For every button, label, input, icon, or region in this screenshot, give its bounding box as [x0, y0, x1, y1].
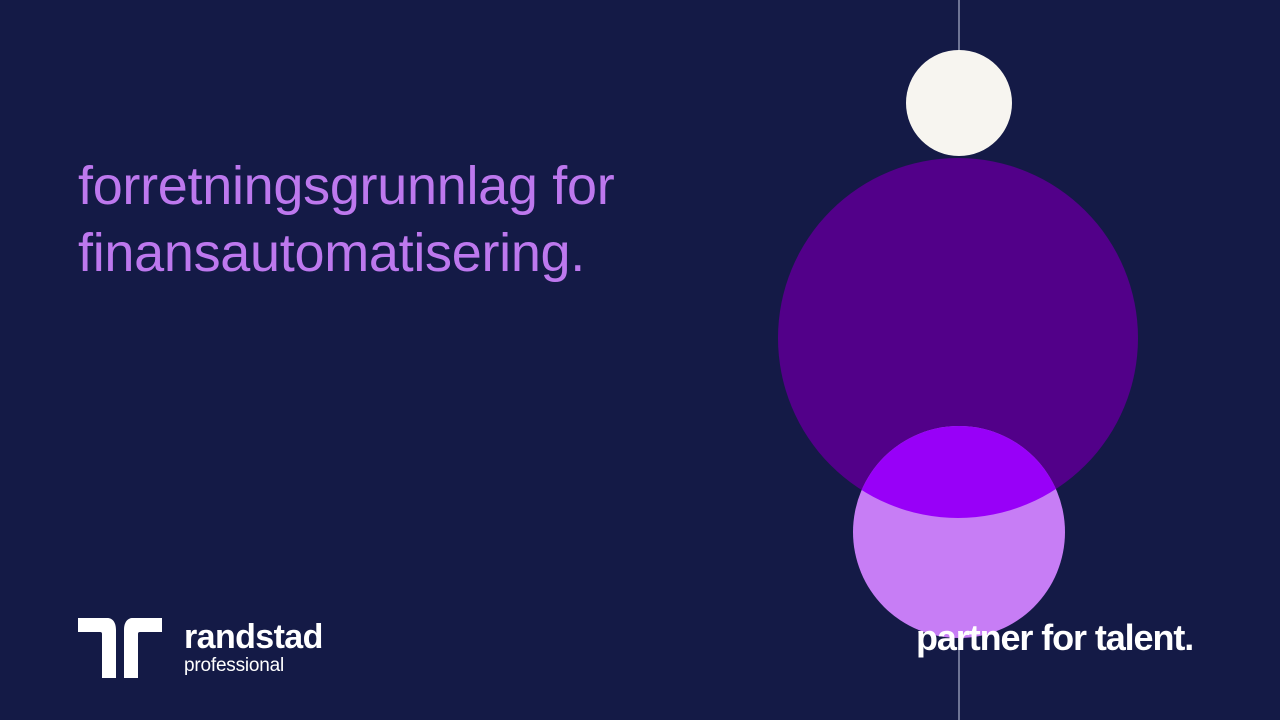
white-circle: [906, 50, 1012, 156]
randstad-subbrand-text: professional: [184, 655, 323, 677]
presentation-slide: forretningsgrunnlag for finansautomatise…: [0, 0, 1280, 720]
randstad-logo-lockup: randstad professional: [78, 618, 323, 678]
circle-composition: [0, 0, 1280, 720]
tagline: partner for talent.: [916, 616, 1193, 660]
randstad-brand-text: randstad: [184, 620, 323, 655]
slide-title: forretningsgrunnlag for finansautomatise…: [78, 153, 718, 287]
randstad-tiller-icon: [78, 618, 162, 678]
randstad-wordmark: randstad professional: [184, 620, 323, 677]
